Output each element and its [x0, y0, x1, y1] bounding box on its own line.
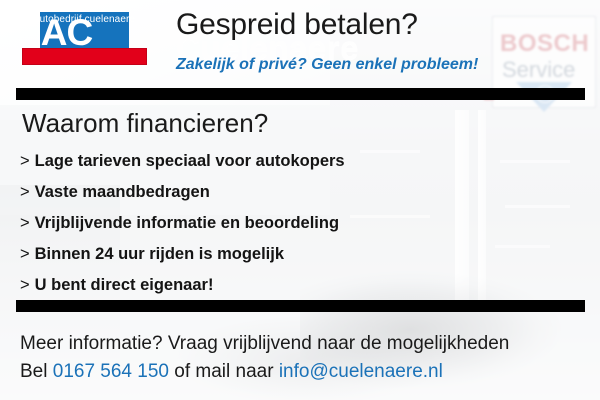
list-item-label: Binnen 24 uur rijden is mogelijk: [35, 245, 284, 263]
list-item: >Binnen 24 uur rijden is mogelijk: [20, 239, 450, 270]
contact-details: Bel 0167 564 150 of mail naar info@cuele…: [20, 358, 590, 386]
list-item: >Lage tarieven speciaal voor autokopers: [20, 146, 450, 177]
chevron-right-icon: >: [20, 146, 30, 177]
call-prefix-label: Bel: [20, 361, 47, 382]
contact-prompt: Meer informatie? Vraag vrijblijvend naar…: [20, 330, 590, 358]
subheadline: Zakelijk of privé? Geen enkel probleem!: [176, 56, 478, 74]
chevron-right-icon: >: [20, 177, 30, 208]
ac-logo[interactable]: AC autobedrijf cuelenaere: [22, 12, 147, 68]
chevron-right-icon: >: [20, 208, 30, 239]
benefit-list: >Lage tarieven speciaal voor autokopers …: [20, 146, 450, 301]
phone-number-link[interactable]: 0167 564 150: [53, 361, 169, 382]
bosch-brand-text: BOSCH: [500, 30, 589, 58]
list-item-label: Lage tarieven speciaal voor autokopers: [35, 152, 345, 170]
list-item-label: Vrijblijvende informatie en beoordeling: [35, 214, 339, 232]
logo-red-strip: [22, 48, 147, 65]
chevron-right-icon: >: [20, 270, 30, 301]
list-item: >U bent direct eigenaar!: [20, 270, 450, 301]
promo-banner: BOSCH Service Cuelenaere AC autobedrijf …: [0, 0, 600, 400]
chevron-right-icon: >: [20, 239, 30, 270]
list-item: >Vaste maandbedragen: [20, 177, 450, 208]
logo-tagline: autobedrijf cuelenaere: [22, 12, 147, 29]
section-title: Waarom financieren?: [22, 108, 268, 139]
bosch-service-text: Service: [502, 57, 575, 83]
list-item: >Vrijblijvende informatie en beoordeling: [20, 208, 450, 239]
mail-prefix-label: of mail naar: [174, 361, 273, 382]
headline: Gespreid betalen?: [176, 8, 418, 42]
contact-footer: Meer informatie? Vraag vrijblijvend naar…: [20, 330, 590, 386]
divider-bottom: [16, 300, 585, 312]
email-link[interactable]: info@cuelenaere.nl: [279, 361, 443, 382]
divider-top: [16, 88, 585, 100]
list-item-label: Vaste maandbedragen: [35, 183, 210, 201]
list-item-label: U bent direct eigenaar!: [35, 276, 214, 294]
